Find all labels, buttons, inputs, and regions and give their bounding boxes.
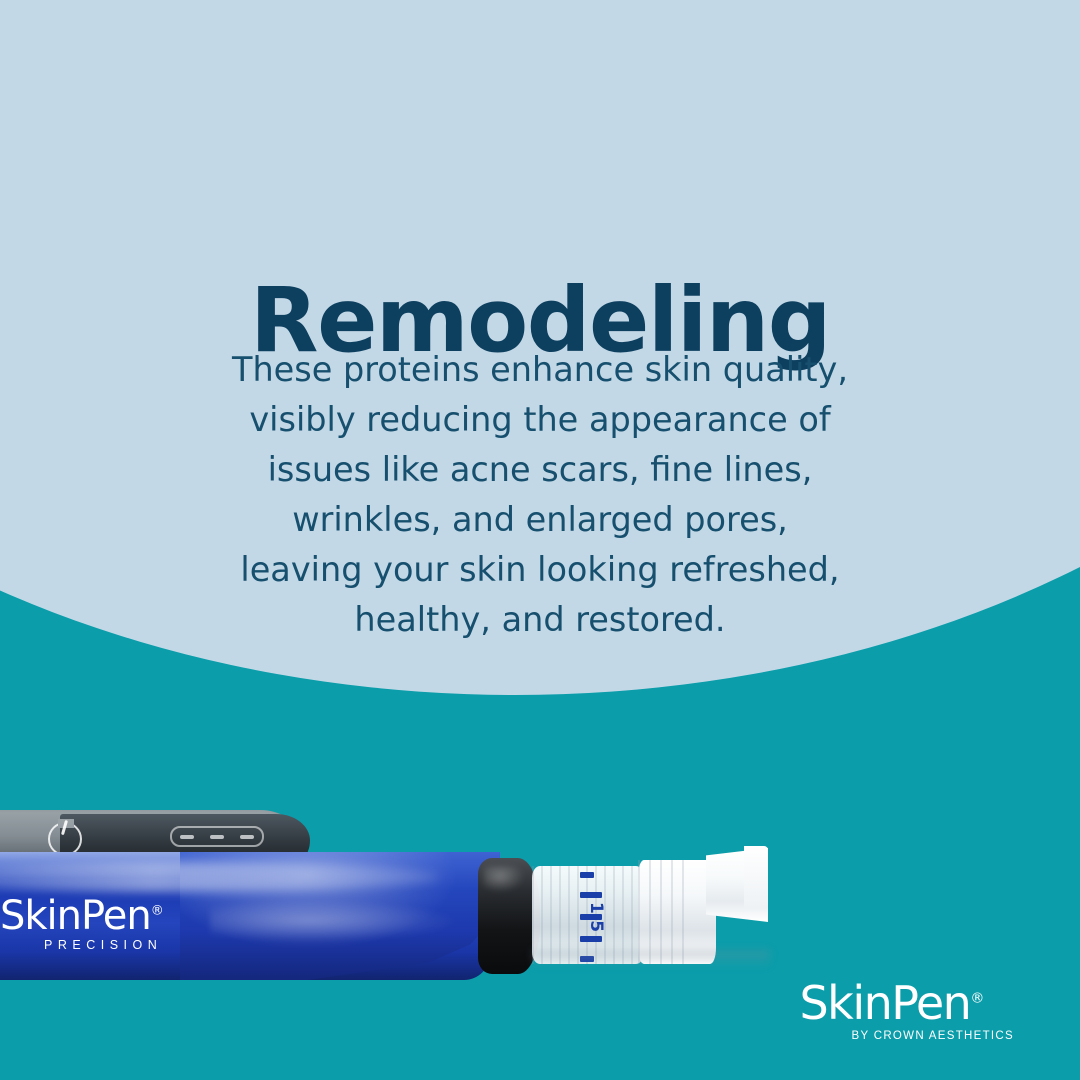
depth-scale-label: 1.5: [586, 902, 606, 932]
depth-tick: [580, 872, 594, 878]
needle-cartridge-tip-end: [744, 846, 768, 908]
device-logo-text: SkinPen: [0, 893, 151, 939]
device-body-highlight-secondary: [210, 900, 460, 942]
registered-mark-icon: ®: [151, 904, 163, 919]
depth-tick: [580, 936, 602, 942]
paragraph-line: These proteins enhance skin quality,: [140, 345, 940, 395]
brand-logo: SkinPen® BY CROWN AESTHETICS: [799, 980, 1014, 1043]
product-image-skinpen-device: SkinPen® PRECISION 1.5: [0, 800, 780, 980]
paragraph-line: wrinkles, and enlarged pores,: [140, 495, 940, 545]
needle-cartridge-shadow: [532, 950, 770, 968]
brand-name-text: SkinPen: [799, 976, 970, 1030]
advertisement-canvas: Remodeling These proteins enhance skin q…: [0, 0, 1080, 1080]
paragraph-line: leaving your skin looking refreshed,: [140, 545, 940, 595]
led-indicator: [180, 835, 194, 839]
paragraph-line: visibly reducing the appearance of: [140, 395, 940, 445]
brand-wordmark: SkinPen®: [799, 976, 982, 1030]
brand-tagline: BY CROWN AESTHETICS: [851, 1031, 1014, 1043]
device-logo-subtitle: PRECISION: [44, 939, 163, 952]
device-collar-highlight: [484, 866, 524, 892]
paragraph-line: healthy, and restored.: [140, 595, 940, 645]
led-indicator: [240, 835, 254, 839]
depth-tick: [580, 892, 602, 898]
device-logo-wordmark: SkinPen®: [0, 896, 163, 936]
led-indicator-group: [170, 826, 264, 847]
body-paragraph: These proteins enhance skin quality, vis…: [140, 345, 940, 645]
device-logo: SkinPen® PRECISION: [0, 896, 163, 952]
power-icon: [48, 822, 82, 856]
paragraph-line: issues like acne scars, fine lines,: [140, 445, 940, 495]
led-indicator: [210, 835, 224, 839]
power-icon-gap: [58, 819, 74, 828]
registered-mark-icon: ®: [970, 990, 983, 1006]
needle-cartridge-mid-ribs: [638, 860, 690, 964]
